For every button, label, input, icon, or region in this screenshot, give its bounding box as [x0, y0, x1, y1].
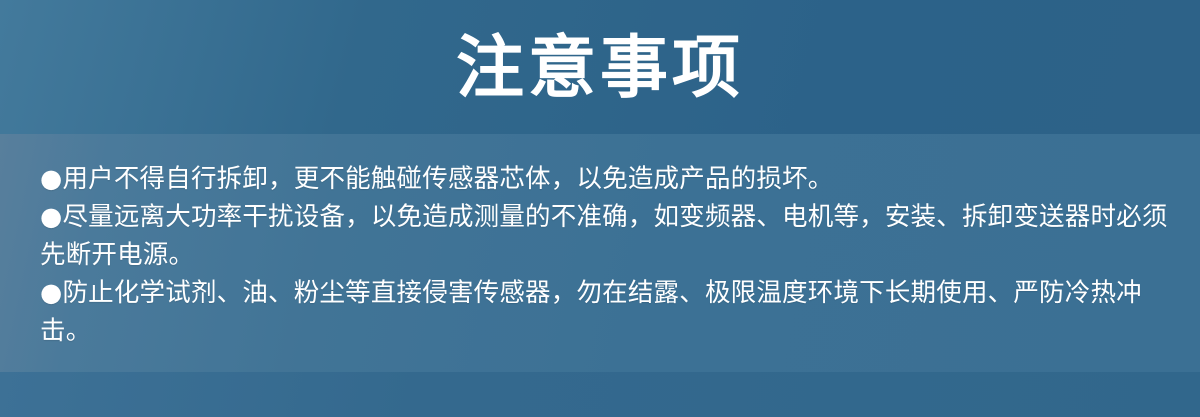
list-item: ●用户不得自行拆卸，更不能触碰传感器芯体，以免造成产品的损坏。	[40, 160, 1172, 198]
poster-content-band: ●用户不得自行拆卸，更不能触碰传感器芯体，以免造成产品的损坏。 ●尽量远离大功率…	[0, 134, 1200, 372]
page-title: 注意事项	[456, 35, 744, 103]
list-item: ●防止化学试剂、油、粉尘等直接侵害传感器，勿在结露、极限温度环境下长期使用、严防…	[40, 274, 1172, 350]
poster-footer-band	[0, 372, 1200, 417]
notes-list: ●用户不得自行拆卸，更不能触碰传感器芯体，以免造成产品的损坏。 ●尽量远离大功率…	[40, 160, 1172, 350]
notice-poster: 注意事项 ●用户不得自行拆卸，更不能触碰传感器芯体，以免造成产品的损坏。 ●尽量…	[0, 0, 1200, 417]
list-item: ●尽量远离大功率干扰设备，以免造成测量的不准确，如变频器、电机等，安装、拆卸变送…	[40, 198, 1172, 274]
poster-header-band: 注意事项	[0, 0, 1200, 134]
